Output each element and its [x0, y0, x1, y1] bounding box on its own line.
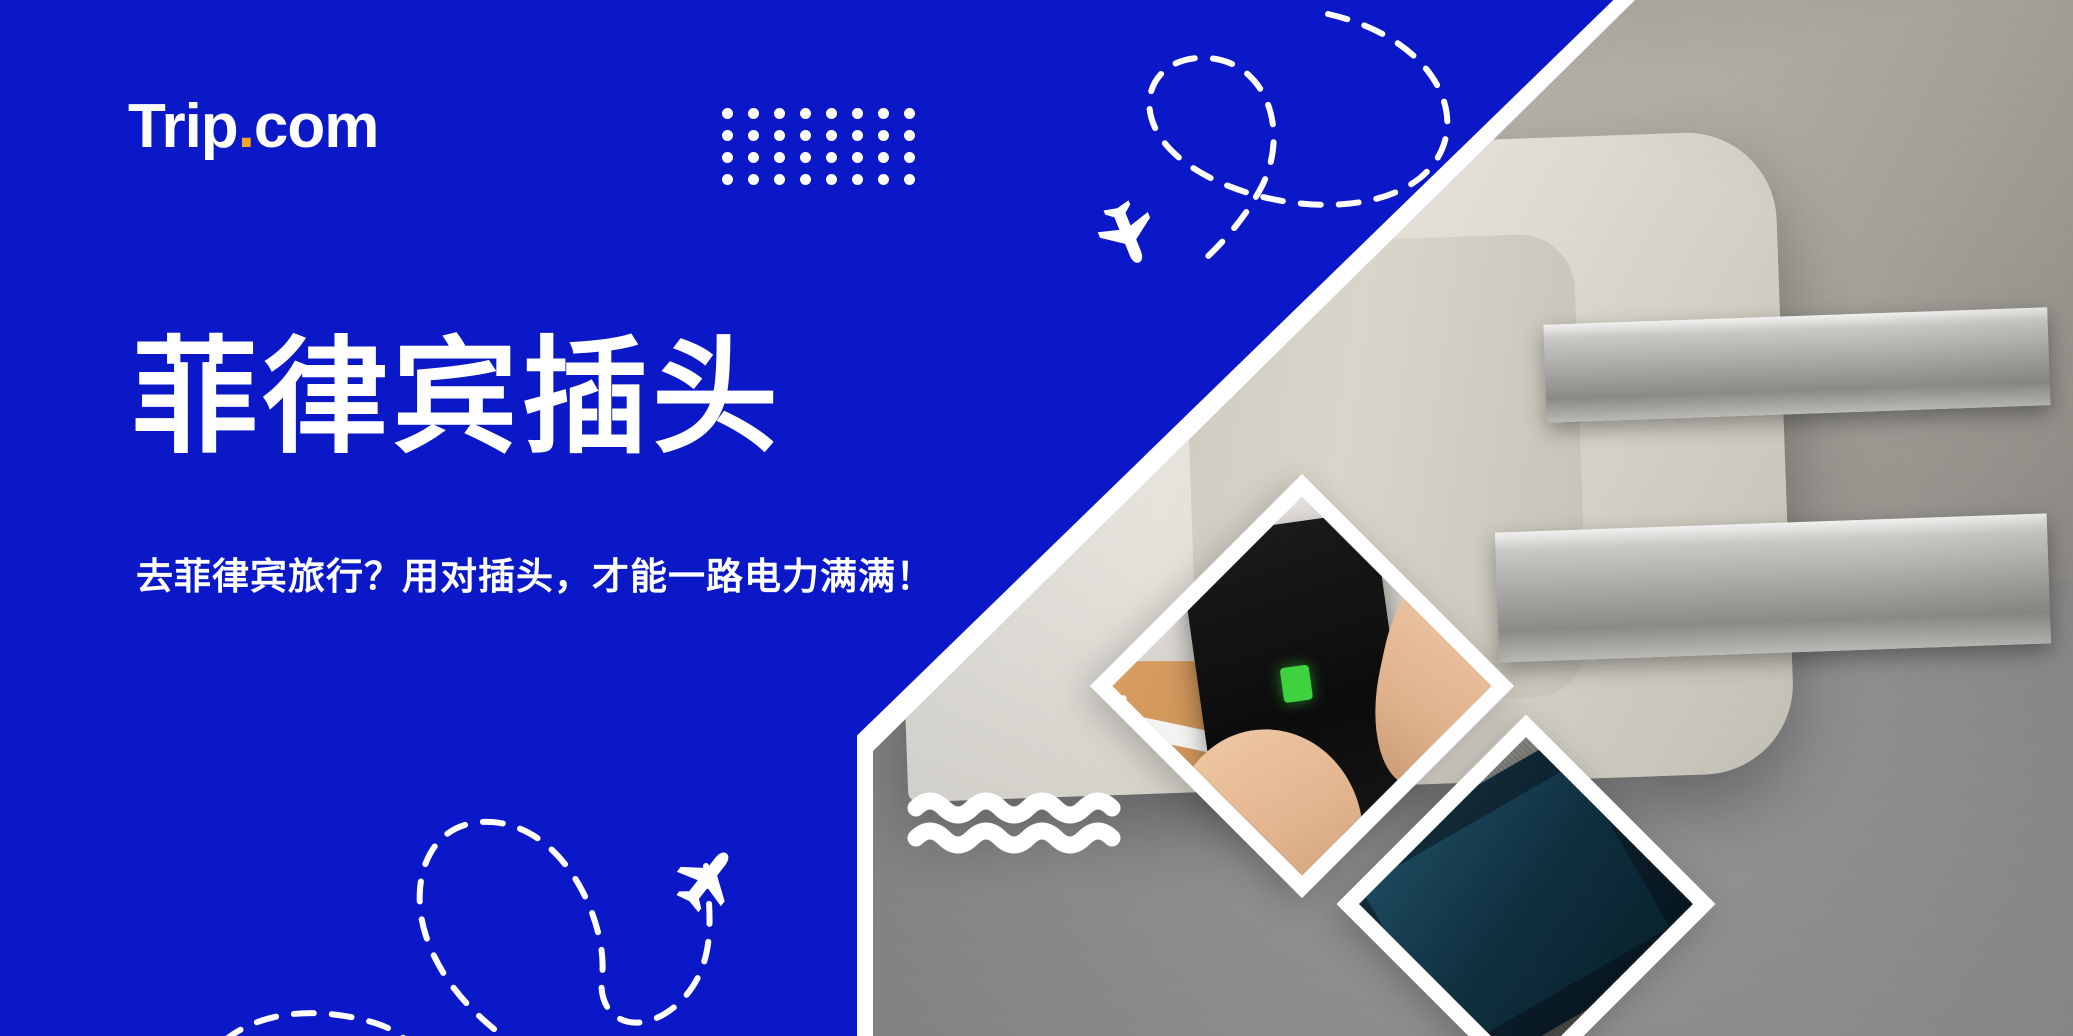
grid-dot	[774, 130, 785, 141]
grid-dot	[722, 174, 733, 185]
trip-banner: Trip.com 菲律宾插头 去菲律宾旅行？用对插头，才能一路电力满满！	[0, 0, 2073, 1036]
dashed-route-corner	[224, 1013, 408, 1036]
wave-line-2	[916, 831, 1112, 845]
wave-decor	[910, 790, 1138, 856]
grid-dot	[852, 130, 863, 141]
battery-icon	[1280, 664, 1314, 703]
logo-dot: .	[238, 92, 254, 161]
flight-path-corner	[150, 985, 410, 1036]
grid-dot	[878, 174, 889, 185]
grid-dot	[722, 130, 733, 141]
logo-word-com: com	[254, 92, 378, 161]
grid-dot	[826, 152, 837, 163]
logo-word-trip: Trip	[128, 92, 238, 161]
grid-dot	[904, 108, 915, 119]
grid-dot	[878, 108, 889, 119]
grid-dot	[852, 174, 863, 185]
grid-dot	[852, 108, 863, 119]
trip-com-logo[interactable]: Trip.com	[128, 96, 378, 158]
grid-dot	[852, 152, 863, 163]
grid-dot	[748, 174, 759, 185]
grid-dot	[904, 152, 915, 163]
grid-dot	[748, 130, 759, 141]
grid-dot	[800, 174, 811, 185]
grid-dot	[826, 130, 837, 141]
grid-dot	[878, 152, 889, 163]
page-subtitle: 去菲律宾旅行？用对插头，才能一路电力满满！	[136, 546, 934, 600]
grid-dot	[774, 174, 785, 185]
dashed-route-top	[1149, 14, 1447, 268]
wave-line-1	[916, 801, 1112, 815]
grid-dot	[800, 130, 811, 141]
grid-dot	[904, 130, 915, 141]
plane-icon-corner	[156, 1022, 216, 1036]
grid-dot	[878, 130, 889, 141]
grid-dot	[748, 108, 759, 119]
grid-dot	[904, 174, 915, 185]
grid-dot	[826, 174, 837, 185]
grid-dot	[774, 152, 785, 163]
flight-path-top	[1090, 10, 1510, 300]
grid-dot	[774, 108, 785, 119]
grid-dot	[722, 152, 733, 163]
dot-grid-decor	[722, 108, 930, 196]
grid-dot	[800, 108, 811, 119]
grid-dot	[748, 152, 759, 163]
flight-path-bottom	[380, 790, 810, 1036]
grid-dot	[722, 108, 733, 119]
grid-dot	[800, 152, 811, 163]
grid-dot	[826, 108, 837, 119]
dashed-route-bottom	[420, 822, 710, 1036]
plane-icon-top	[1091, 195, 1164, 272]
page-title: 菲律宾插头	[132, 330, 782, 466]
